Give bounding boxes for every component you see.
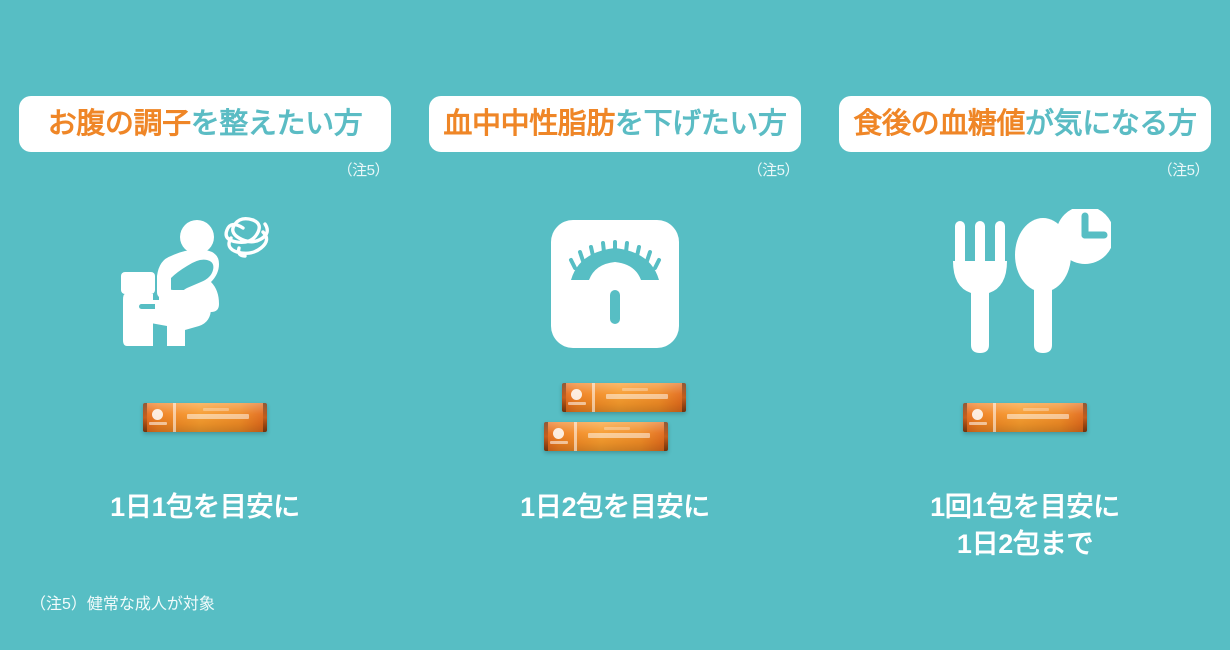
packet-brand-text <box>588 433 650 438</box>
packet-brand-topline <box>1023 408 1049 411</box>
packet-brand-topline <box>622 388 648 391</box>
usage-column-blood-sugar: 食後の血糖値が気になる方 （注5） <box>820 96 1230 564</box>
usage-line: 1回1包を目安に <box>930 489 1120 526</box>
packet-logo-icon <box>972 409 983 420</box>
heading-note-ref: （注5） <box>429 159 801 180</box>
usage-label: 1日1包を目安に <box>110 489 300 526</box>
packet-brand-text <box>1007 414 1069 419</box>
heading-highlight: お腹の調子 <box>48 108 191 140</box>
usage-label: 1日2包を目安に <box>520 489 710 526</box>
packet-area <box>0 371 410 463</box>
heading-pill: 血中中性脂肪を下げたい方 <box>429 96 801 152</box>
heading-text: 血中中性脂肪を下げたい方 <box>443 110 786 139</box>
heading-block: 食後の血糖値が気になる方 （注5） <box>839 96 1211 180</box>
packet-logo-icon <box>571 389 582 400</box>
heading-text: 食後の血糖値が気になる方 <box>853 110 1196 139</box>
product-stick-packet <box>562 383 686 412</box>
usage-line: 1日2包まで <box>930 526 1120 563</box>
packet-logo-icon <box>152 409 163 420</box>
usage-label: 1回1包を目安に 1日2包まで <box>930 489 1120 564</box>
heading-note-ref: （注5） <box>19 159 391 180</box>
usage-columns: お腹の調子を整えたい方 （注5） <box>0 96 1230 564</box>
packet-band <box>574 422 577 451</box>
packet-logo-subtext <box>550 441 568 444</box>
heading-block: 血中中性脂肪を下げたい方 （注5） <box>429 96 801 180</box>
packet-band <box>592 383 595 412</box>
packet-logo-icon <box>553 428 564 439</box>
bathroom-scale-icon <box>549 218 681 350</box>
heading-pill: 食後の血糖値が気になる方 <box>839 96 1211 152</box>
icon-area <box>410 196 820 371</box>
heading-rest: が気になる方 <box>1025 108 1197 140</box>
usage-guide-board: お腹の調子を整えたい方 （注5） <box>0 0 1230 650</box>
heading-rest: を整えたい方 <box>191 108 363 140</box>
footnote: （注5）健常な成人が対象 <box>30 590 215 614</box>
packet-logo-subtext <box>969 422 987 425</box>
packet-area <box>820 371 1230 463</box>
packet-brand-topline <box>203 408 229 411</box>
packet-band <box>173 403 176 432</box>
packet-area <box>410 371 820 463</box>
heading-note-ref: （注5） <box>839 159 1211 180</box>
usage-column-triglycerides: 血中中性脂肪を下げたい方 （注5） <box>410 96 820 564</box>
usage-column-gut-health: お腹の調子を整えたい方 （注5） <box>0 96 410 564</box>
packet-band <box>993 403 996 432</box>
icon-area <box>0 196 410 371</box>
icon-area <box>820 196 1230 371</box>
packet-brand-text <box>187 414 249 419</box>
heading-rest: を下げたい方 <box>615 108 787 140</box>
fork-spoon-clock-icon <box>939 209 1111 359</box>
packet-logo-subtext <box>568 402 586 405</box>
heading-pill: お腹の調子を整えたい方 <box>19 96 391 152</box>
product-stick-packet <box>143 403 267 432</box>
heading-text: お腹の調子を整えたい方 <box>48 110 363 139</box>
usage-line: 1日1包を目安に <box>110 489 300 526</box>
product-stick-packet <box>544 422 668 451</box>
person-on-toilet-icon <box>115 204 295 364</box>
packet-brand-text <box>606 394 668 399</box>
heading-highlight: 血中中性脂肪 <box>443 108 615 140</box>
usage-line: 1日2包を目安に <box>520 489 710 526</box>
heading-block: お腹の調子を整えたい方 （注5） <box>19 96 391 180</box>
heading-highlight: 食後の血糖値 <box>853 108 1025 140</box>
packet-logo-subtext <box>149 422 167 425</box>
packet-brand-topline <box>604 427 630 430</box>
product-stick-packet <box>963 403 1087 432</box>
